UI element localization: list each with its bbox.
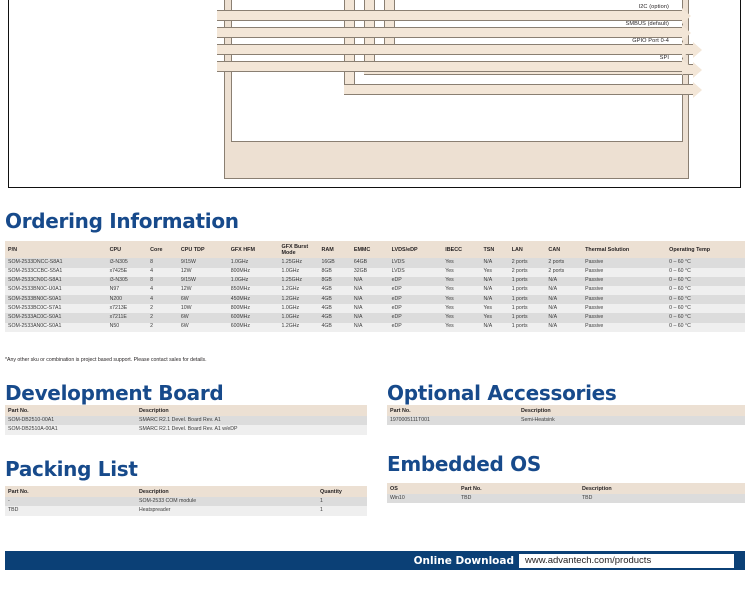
table-cell: TBD — [579, 494, 745, 503]
table-cell: 2 — [147, 323, 178, 332]
table-cell: N/A — [545, 295, 582, 304]
table-cell: 1.0GHz — [228, 258, 279, 267]
col-operating-temp: Operating Temp — [666, 241, 745, 258]
bus-label-5: I2C (option) — [639, 4, 669, 10]
table-cell: 12W — [178, 286, 228, 295]
table-cell: 1 ports — [509, 295, 546, 304]
table-cell: 6W — [178, 313, 228, 322]
table-cell: eDP — [389, 323, 443, 332]
table-cell: 2 — [147, 304, 178, 313]
table-cell: TBD — [458, 494, 579, 503]
table-header-row: OS Part No. Description — [387, 483, 745, 494]
table-cell: 1.0GHz — [279, 304, 319, 313]
table-cell: eDP — [389, 295, 443, 304]
table-cell: 4 — [147, 268, 178, 277]
table-cell: 4 — [147, 295, 178, 304]
table-cell: 8 — [147, 258, 178, 267]
optional-accessories-table: Part No. Description 1970005111T001Semi-… — [387, 405, 745, 425]
section-title-development-board: Development Board — [5, 381, 223, 405]
col-lan: LAN — [509, 241, 546, 258]
table-cell: 4GB — [319, 313, 351, 322]
table-cell: 8 — [147, 277, 178, 286]
table-cell: N50 — [107, 323, 148, 332]
bus-label-7: GPIO Port 0-4 — [632, 38, 669, 44]
table-cell: 0 – 60 °C — [666, 313, 745, 322]
bus-row-5: I2C (option) — [217, 10, 683, 21]
table-cell: 32GB — [351, 268, 389, 277]
table-cell: N/A — [481, 295, 509, 304]
table-cell: SOM-2533CN0C-S8A1 — [5, 277, 107, 286]
table-cell: 2 ports — [509, 268, 546, 277]
table-cell: N/A — [481, 258, 509, 267]
table-cell: 1970005111T001 — [387, 416, 518, 425]
table-cell: 2 ports — [545, 268, 582, 277]
table-cell: N97 — [107, 286, 148, 295]
table-cell: Yes — [442, 286, 480, 295]
table-cell: Heatspreader — [136, 506, 317, 515]
table-row: SOM-2533BN0C-U0A1N97412W850MHz1.2GHz4GBN… — [5, 286, 745, 295]
table-cell: 1.0GHz — [228, 277, 279, 286]
table-cell: Win10 — [387, 494, 458, 503]
table-cell: Passive — [582, 258, 666, 267]
feedback-bus-1-horizontal — [344, 84, 694, 95]
col-gfx-hfm: GFX HFM — [228, 241, 279, 258]
table-cell: N/A — [545, 286, 582, 295]
table-row: SOM-2533CN0C-S8A1i3-N30589/15W1.0GHz1.25… — [5, 277, 745, 286]
table-cell: 9/15W — [178, 277, 228, 286]
table-cell: 1 ports — [509, 323, 546, 332]
table-cell: Yes — [442, 258, 480, 267]
table-cell: Passive — [582, 323, 666, 332]
table-cell: N/A — [481, 323, 509, 332]
table-cell: 8GB — [319, 277, 351, 286]
col-lvds-edp: LVDS/eDP — [389, 241, 443, 258]
optional-accessories-table-body: 1970005111T001Semi-Heatsink — [387, 416, 745, 425]
embedded-os-table-body: Win10TBDTBD — [387, 494, 745, 503]
section-title-optional-accessories: Optional Accessories — [387, 381, 617, 405]
table-row: 1970005111T001Semi-Heatsink — [387, 416, 745, 425]
table-cell: 0 – 60 °C — [666, 323, 745, 332]
table-cell: 0 – 60 °C — [666, 304, 745, 313]
table-cell: Passive — [582, 295, 666, 304]
section-title-embedded-os: Embedded OS — [387, 452, 541, 476]
table-cell: 1.25GHz — [279, 277, 319, 286]
table-cell: 8GB — [319, 268, 351, 277]
table-cell: Yes — [442, 304, 480, 313]
table-cell: eDP — [389, 304, 443, 313]
table-cell: N/A — [351, 313, 389, 322]
table-cell: 1 ports — [509, 313, 546, 322]
table-cell: 450MHz — [228, 295, 279, 304]
table-cell: 1 ports — [509, 286, 546, 295]
table-row: SOM-2533AN0C-S0A1N5026W600MHz1.2GHz4GBN/… — [5, 323, 745, 332]
col-emmc: EMMC — [351, 241, 389, 258]
table-cell: Yes — [442, 268, 480, 277]
table-cell: N/A — [545, 313, 582, 322]
table-cell: x7211E — [107, 313, 148, 322]
table-cell: 0 – 60 °C — [666, 268, 745, 277]
section-title-ordering: Ordering Information — [5, 209, 239, 233]
table-header-row: Part No. Description — [387, 405, 745, 416]
table-cell: 0 – 60 °C — [666, 286, 745, 295]
table-cell: 6W — [178, 295, 228, 304]
table-cell: eDP — [389, 286, 443, 295]
table-cell: 1.25GHz — [279, 258, 319, 267]
table-cell: SMARC R2.1 Devel. Board Rev. A1 w/eDP — [136, 425, 367, 434]
table-cell: SOM-DB2510-00A1 — [5, 416, 136, 425]
table-cell: N/A — [481, 277, 509, 286]
table-row: SOM-DB2510-00A1SMARC R2.1 Devel. Board R… — [5, 416, 367, 425]
table-row: Win10TBDTBD — [387, 494, 745, 503]
table-cell: 4GB — [319, 304, 351, 313]
table-cell: N/A — [545, 277, 582, 286]
table-cell: N/A — [481, 286, 509, 295]
ordering-table-footnote: *Any other sku or combination is project… — [5, 357, 207, 363]
table-cell: 600MHz — [228, 313, 279, 322]
table-cell: 1.2GHz — [279, 323, 319, 332]
table-cell: N/A — [545, 304, 582, 313]
table-cell: x7213E — [107, 304, 148, 313]
footer-bar: Online Download www.advantech.com/produc… — [5, 551, 745, 570]
table-cell: 4GB — [319, 286, 351, 295]
table-cell: TBD — [5, 506, 136, 515]
col-part-no: Part No. — [387, 405, 518, 416]
col-gfx-burst-mode: GFX Burst Mode — [279, 241, 319, 258]
table-cell: SOM-2533CCBC-S5A1 — [5, 268, 107, 277]
table-cell: 4GB — [319, 323, 351, 332]
development-board-table: Part No. Description SOM-DB2510-00A1SMAR… — [5, 405, 367, 435]
table-cell: SOM-2533BC0C-S7A1 — [5, 304, 107, 313]
table-cell: N/A — [351, 277, 389, 286]
table-cell: 1.0GHz — [279, 313, 319, 322]
table-cell: 0 – 60 °C — [666, 295, 745, 304]
table-cell: Passive — [582, 277, 666, 286]
col-part-no: Part No. — [5, 486, 136, 497]
table-cell: 9/15W — [178, 258, 228, 267]
table-cell: 12W — [178, 268, 228, 277]
packing-list-table-body: -SOM-2533 COM module1TBDHeatspreader1 — [5, 497, 367, 515]
table-header-row: Part No. Description Quantity — [5, 486, 367, 497]
table-cell: N/A — [351, 304, 389, 313]
table-cell: 1.2GHz — [279, 295, 319, 304]
bus-label-8: SPI — [660, 55, 669, 61]
col-quantity: Quantity — [317, 486, 367, 497]
table-cell: N/A — [351, 295, 389, 304]
module-outer-region: eSPI iManager 2x UART (4 lanes) — [224, 0, 689, 179]
col-ram: RAM — [319, 241, 351, 258]
col-description: Description — [579, 483, 745, 494]
table-cell: Yes — [442, 313, 480, 322]
col-core: Core — [147, 241, 178, 258]
table-cell: SOM-DB2510A-00A1 — [5, 425, 136, 434]
table-cell: SOM-2533 COM module — [136, 497, 317, 506]
table-cell: 4 — [147, 286, 178, 295]
table-cell: 1.2GHz — [279, 286, 319, 295]
bus-row-6: SMBUS (default) — [217, 27, 683, 38]
col-pn: P/N — [5, 241, 107, 258]
table-cell: 800MHz — [228, 304, 279, 313]
table-cell: SOM-2533AN0C-S0A1 — [5, 323, 107, 332]
table-cell: eDP — [389, 313, 443, 322]
table-row: -SOM-2533 COM module1 — [5, 497, 367, 506]
table-header-row: P/N CPU Core CPU TDP GFX HFM GFX Burst M… — [5, 241, 745, 258]
col-cpu: CPU — [107, 241, 148, 258]
table-cell: i3-N305 — [107, 258, 148, 267]
table-cell: 0 – 60 °C — [666, 277, 745, 286]
table-cell: Passive — [582, 313, 666, 322]
table-cell: 1 — [317, 506, 367, 515]
section-title-packing-list: Packing List — [5, 457, 138, 481]
col-tsn: TSN — [481, 241, 509, 258]
table-cell: SOM-2533DNCC-S8A1 — [5, 258, 107, 267]
table-cell: Yes — [481, 268, 509, 277]
col-description: Description — [136, 486, 317, 497]
table-cell: 4GB — [319, 295, 351, 304]
table-cell: Yes — [481, 313, 509, 322]
table-cell: Yes — [442, 295, 480, 304]
col-cpu-tdp: CPU TDP — [178, 241, 228, 258]
table-cell: N/A — [351, 286, 389, 295]
bus-label-6: SMBUS (default) — [626, 21, 669, 27]
table-cell: Passive — [582, 286, 666, 295]
col-thermal-solution: Thermal Solution — [582, 241, 666, 258]
table-cell: Yes — [481, 304, 509, 313]
table-cell: N/A — [351, 323, 389, 332]
table-cell: 2 ports — [545, 258, 582, 267]
table-cell: Yes — [442, 323, 480, 332]
table-cell: 2 ports — [509, 258, 546, 267]
col-description: Description — [136, 405, 367, 416]
table-cell: eDP — [389, 277, 443, 286]
col-os: OS — [387, 483, 458, 494]
table-cell: i3-N305 — [107, 277, 148, 286]
table-header-row: Part No. Description — [5, 405, 367, 416]
table-cell: SOM-2533AC0C-S0A1 — [5, 313, 107, 322]
block-diagram-canvas: eSPI iManager 2x UART (4 lanes) — [19, 0, 730, 177]
feedback-bus-3 — [384, 0, 395, 48]
block-diagram-panel: eSPI iManager 2x UART (4 lanes) — [8, 0, 741, 188]
table-cell: Passive — [582, 268, 666, 277]
col-part-no: Part No. — [458, 483, 579, 494]
ordering-table-body: SOM-2533DNCC-S8A1i3-N30589/15W1.0GHz1.25… — [5, 258, 745, 331]
table-cell: N/A — [545, 323, 582, 332]
packing-list-table: Part No. Description Quantity -SOM-2533 … — [5, 486, 367, 516]
table-cell: 1 — [317, 497, 367, 506]
table-cell: Semi-Heatsink — [518, 416, 745, 425]
table-cell: SMARC R2.1 Devel. Board Rev. A1 — [136, 416, 367, 425]
col-can: CAN — [545, 241, 582, 258]
table-cell: 0 – 60 °C — [666, 258, 745, 267]
table-cell: 2 — [147, 313, 178, 322]
bus-row-7: GPIO Port 0-4 — [217, 44, 683, 55]
col-ibecc: IBECC — [442, 241, 480, 258]
table-cell: LVDS — [389, 258, 443, 267]
online-download-label: Online Download — [414, 555, 514, 567]
table-cell: Yes — [442, 277, 480, 286]
table-cell: 1 ports — [509, 304, 546, 313]
table-cell: 10W — [178, 304, 228, 313]
table-row: SOM-2533BN0C-S0A1N20046W450MHz1.2GHz4GBN… — [5, 295, 745, 304]
table-row: SOM-2533BC0C-S7A1x7213E210W800MHz1.0GHz4… — [5, 304, 745, 313]
table-cell: 850MHz — [228, 286, 279, 295]
development-board-table-body: SOM-DB2510-00A1SMARC R2.1 Devel. Board R… — [5, 416, 367, 434]
table-cell: N200 — [107, 295, 148, 304]
table-cell: 16GB — [319, 258, 351, 267]
col-description: Description — [518, 405, 745, 416]
ordering-information-table: P/N CPU Core CPU TDP GFX HFM GFX Burst M… — [5, 241, 745, 332]
table-cell: 1.0GHz — [279, 268, 319, 277]
col-part-no: Part No. — [5, 405, 136, 416]
table-cell: Passive — [582, 304, 666, 313]
table-cell: LVDS — [389, 268, 443, 277]
online-download-url[interactable]: www.advantech.com/products — [519, 554, 734, 568]
table-row: TBDHeatspreader1 — [5, 506, 367, 515]
table-row: SOM-DB2510A-00A1SMARC R2.1 Devel. Board … — [5, 425, 367, 434]
table-cell: SOM-2533BN0C-U0A1 — [5, 286, 107, 295]
table-cell: 800MHz — [228, 268, 279, 277]
bus-row-8: SPI — [217, 61, 683, 72]
table-cell: 1 ports — [509, 277, 546, 286]
table-cell: x7425E — [107, 268, 148, 277]
table-cell: SOM-2533BN0C-S0A1 — [5, 295, 107, 304]
table-row: SOM-2533CCBC-S5A1x7425E412W800MHz1.0GHz8… — [5, 268, 745, 277]
embedded-os-table: OS Part No. Description Win10TBDTBD — [387, 483, 745, 503]
table-row: SOM-2533AC0C-S0A1x7211E26W600MHz1.0GHz4G… — [5, 313, 745, 322]
table-row: SOM-2533DNCC-S8A1i3-N30589/15W1.0GHz1.25… — [5, 258, 745, 267]
table-cell: 64GB — [351, 258, 389, 267]
table-cell: 6W — [178, 323, 228, 332]
table-cell: 600MHz — [228, 323, 279, 332]
table-cell: - — [5, 497, 136, 506]
